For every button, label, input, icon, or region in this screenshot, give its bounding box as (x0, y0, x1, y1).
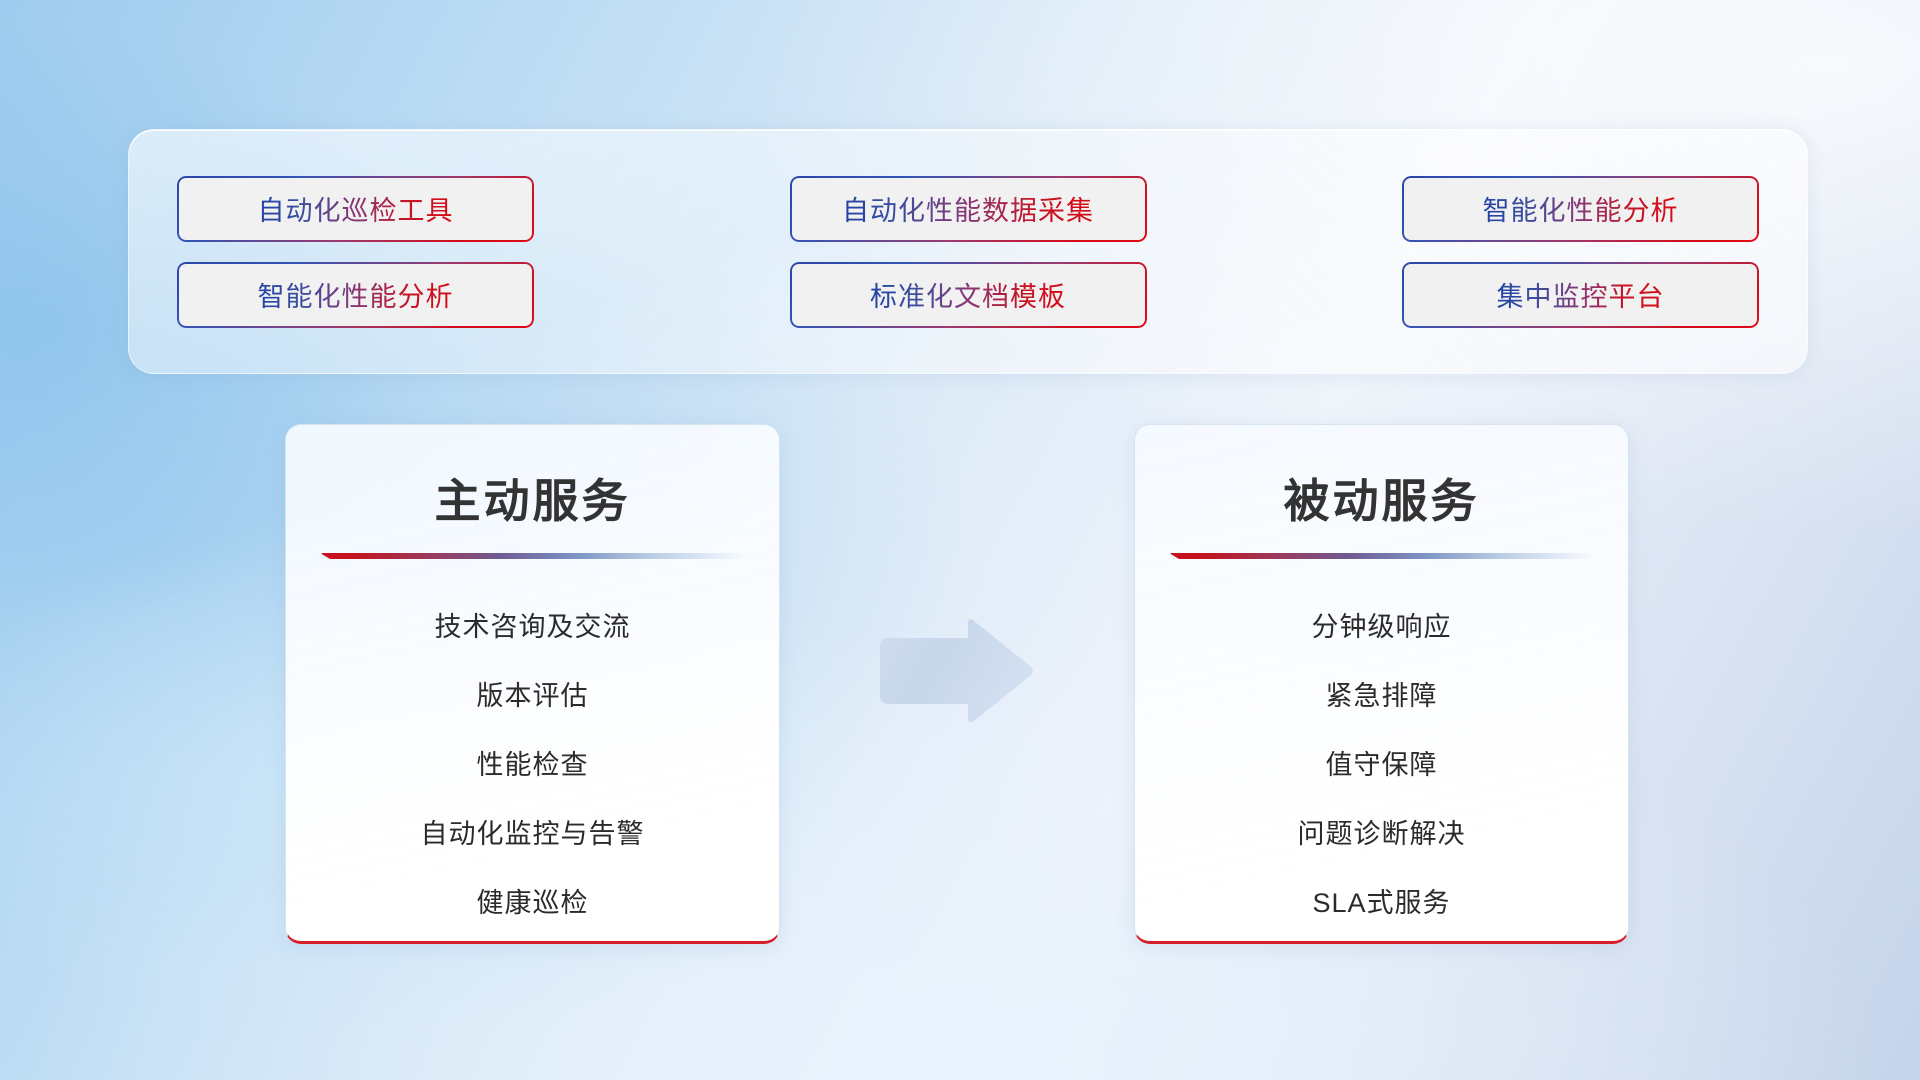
capability-tag[interactable]: 自动化性能数据采集 (790, 176, 1147, 242)
capability-tag[interactable]: 集中监控平台 (1402, 262, 1759, 328)
capabilities-row-1: 自动化巡检工具 自动化性能数据采集 智能化性能分析 (177, 176, 1759, 242)
capability-tag-label: 标准化文档模板 (870, 275, 1066, 314)
title-underline-rule (1169, 553, 1594, 559)
service-item-list: 分钟级响应 紧急排障 值守保障 问题诊断解决 SLA式服务 (1169, 593, 1594, 938)
service-card-reactive: 被动服务 分钟级响应 紧急排障 值守保障 问题诊断解决 SLA式服务 (1134, 424, 1629, 944)
list-item: 值守保障 (1169, 731, 1594, 800)
capabilities-panel: 自动化巡检工具 自动化性能数据采集 智能化性能分析 智能化性能分析 标准化文档模… (128, 129, 1808, 374)
list-item: 问题诊断解决 (1169, 800, 1594, 869)
service-card-proactive: 主动服务 技术咨询及交流 版本评估 性能检查 自动化监控与告警 健康巡检 (285, 424, 780, 944)
capabilities-row-2: 智能化性能分析 标准化文档模板 集中监控平台 (177, 262, 1759, 328)
service-item-list: 技术咨询及交流 版本评估 性能检查 自动化监控与告警 健康巡检 (320, 593, 745, 938)
capability-tag-label: 自动化性能数据采集 (842, 189, 1094, 228)
capability-tag-label: 智能化性能分析 (1483, 189, 1679, 228)
list-item: 健康巡检 (320, 869, 745, 938)
list-item: 分钟级响应 (1169, 593, 1594, 662)
capability-tag[interactable]: 标准化文档模板 (790, 262, 1147, 328)
arrow-right-icon (876, 618, 1036, 722)
list-item: 自动化监控与告警 (320, 800, 745, 869)
capability-tag[interactable]: 智能化性能分析 (1402, 176, 1759, 242)
capability-tag-label: 集中监控平台 (1497, 275, 1665, 314)
list-item: 版本评估 (320, 662, 745, 731)
card-title: 主动服务 (320, 465, 745, 531)
title-underline-rule (320, 553, 745, 559)
list-item: 性能检查 (320, 731, 745, 800)
capability-tag-label: 自动化巡检工具 (258, 189, 454, 228)
list-item: SLA式服务 (1169, 869, 1594, 938)
capability-tag[interactable]: 智能化性能分析 (177, 262, 534, 328)
card-title: 被动服务 (1169, 465, 1594, 531)
list-item: 技术咨询及交流 (320, 593, 745, 662)
list-item: 紧急排障 (1169, 662, 1594, 731)
capability-tag-label: 智能化性能分析 (258, 275, 454, 314)
capability-tag[interactable]: 自动化巡检工具 (177, 176, 534, 242)
slide-stage: 自动化巡检工具 自动化性能数据采集 智能化性能分析 智能化性能分析 标准化文档模… (0, 0, 1920, 1080)
